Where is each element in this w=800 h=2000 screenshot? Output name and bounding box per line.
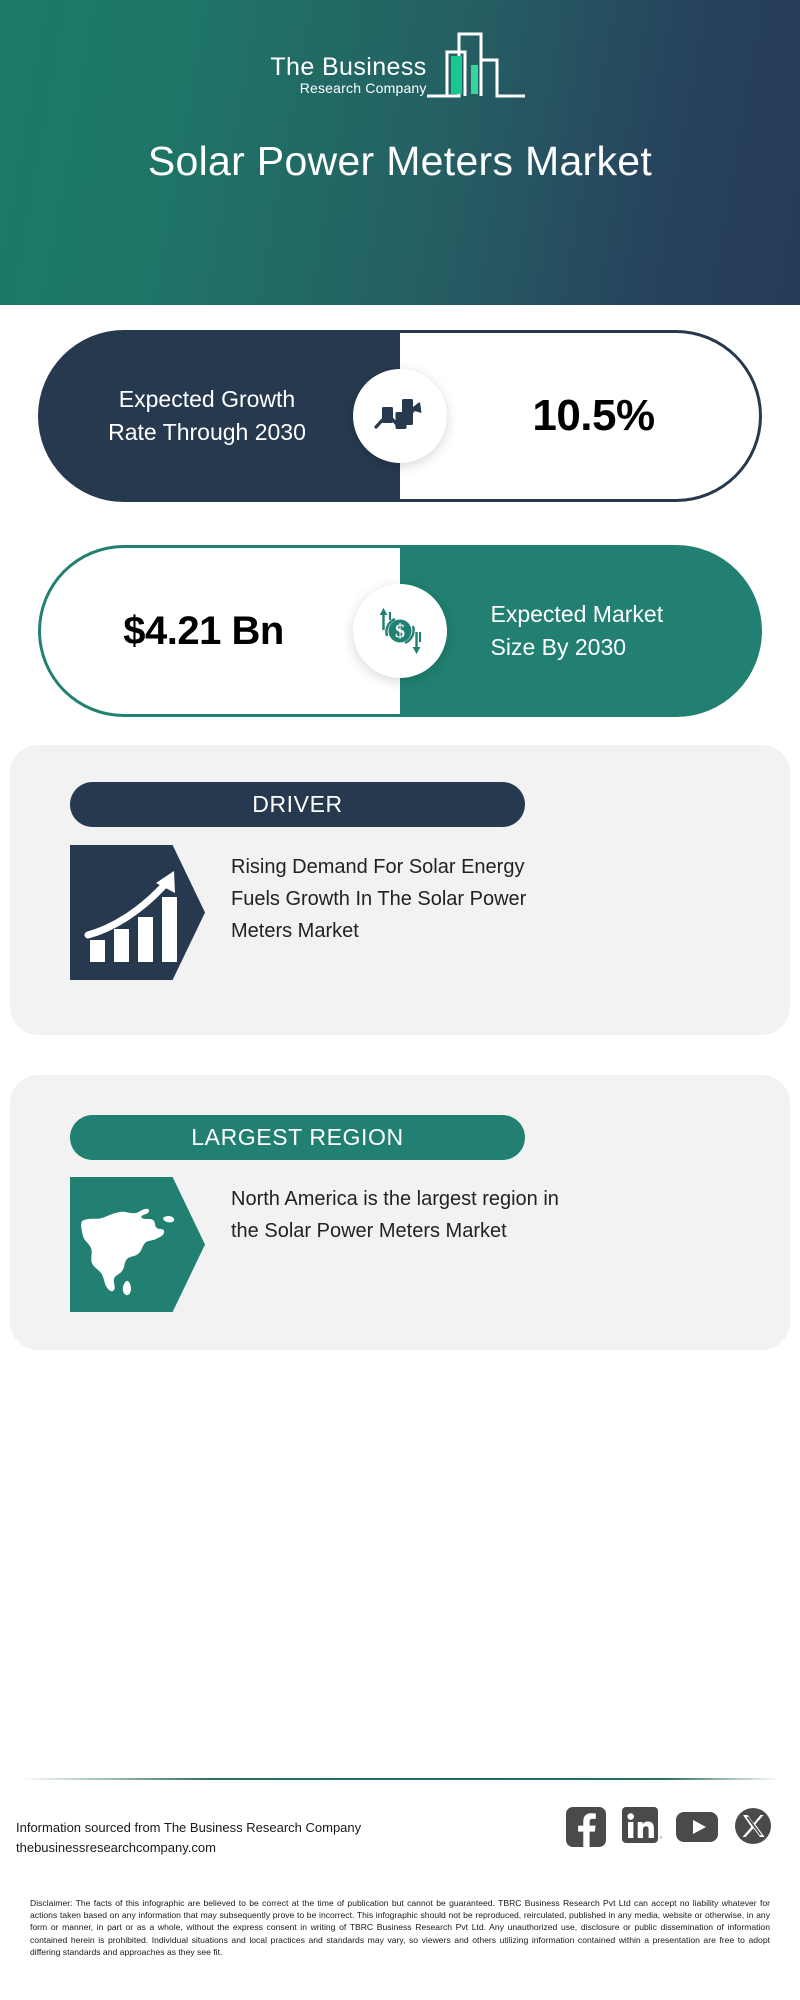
logo-line-2: Research Company [300, 80, 427, 96]
driver-body-text: Rising Demand For Solar Energy Fuels Gro… [231, 845, 561, 947]
driver-section: DRIVER Rising Demand For Solar Energy Fu… [10, 745, 790, 1035]
north-america-map-icon [70, 1177, 205, 1312]
growth-rate-value-panel: 10.5% [400, 330, 762, 502]
driver-content-row: Rising Demand For Solar Energy Fuels Gro… [70, 845, 561, 980]
dollar-circular-arrows-icon: $ [353, 584, 447, 678]
logo-line-1: The Business [270, 54, 426, 80]
growth-rate-value: 10.5% [532, 391, 654, 441]
driver-heading-pill: DRIVER [70, 782, 525, 827]
footer-divider [20, 1778, 780, 1780]
company-logo: The Business Research Company [0, 22, 800, 102]
largest-region-heading-label: LARGEST REGION [191, 1124, 403, 1151]
market-size-value-panel: $4.21 Bn [38, 545, 400, 717]
facebook-icon[interactable] [564, 1805, 608, 1849]
growth-chart-arrow-icon [353, 369, 447, 463]
largest-region-heading-pill: LARGEST REGION [70, 1115, 525, 1160]
stat-card-growth-rate: Expected Growth Rate Through 2030 10.5% [38, 330, 762, 502]
growth-rate-label-panel: Expected Growth Rate Through 2030 [38, 330, 400, 502]
svg-text:™: ™ [659, 1836, 662, 1842]
stat-card-market-size: $4.21 Bn Expected Market Size By 2030 $ [38, 545, 762, 717]
page-title: Solar Power Meters Market [0, 138, 800, 185]
logo-wordmark: The Business Research Company [270, 54, 426, 102]
largest-region-section: LARGEST REGION North America is the larg… [10, 1075, 790, 1350]
linkedin-icon[interactable]: ™ [620, 1805, 664, 1849]
source-attribution: Information sourced from The Business Re… [16, 1818, 361, 1858]
driver-heading-label: DRIVER [252, 791, 343, 818]
bar-chart-logo-mark-icon [425, 22, 530, 102]
youtube-icon[interactable] [676, 1805, 720, 1849]
header-banner: The Business Research Company Solar Powe… [0, 0, 800, 305]
source-line-1: Information sourced from The Business Re… [16, 1818, 361, 1838]
svg-text:$: $ [395, 621, 405, 643]
social-links: ™ [564, 1805, 776, 1849]
largest-region-content-row: North America is the largest region in t… [70, 1177, 561, 1312]
market-size-label-panel: Expected Market Size By 2030 [400, 545, 762, 717]
x-twitter-icon[interactable] [732, 1805, 776, 1849]
market-size-label: Expected Market Size By 2030 [491, 598, 706, 664]
rising-bar-chart-arrow-icon [70, 845, 205, 980]
disclaimer-text: Disclaimer: The facts of this infographi… [30, 1897, 770, 1958]
growth-rate-label: Expected Growth Rate Through 2030 [92, 383, 322, 449]
largest-region-body-text: North America is the largest region in t… [231, 1177, 561, 1247]
source-website[interactable]: thebusinessresearchcompany.com [16, 1838, 361, 1858]
market-size-value: $4.21 Bn [123, 609, 284, 654]
